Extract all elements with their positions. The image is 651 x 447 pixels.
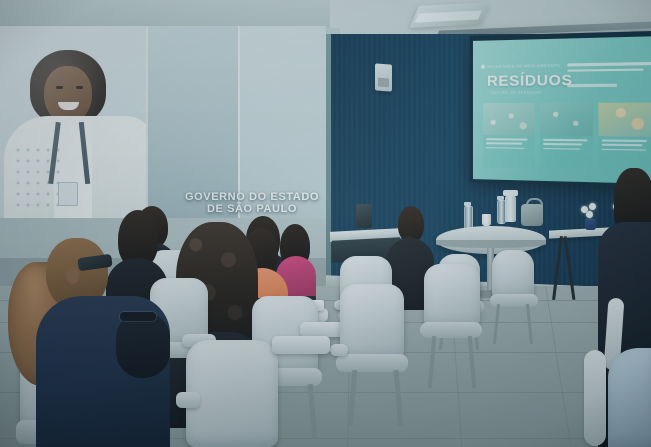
slide-title: RESÍDUOS [487, 72, 573, 90]
attendee-front-left-epaulette [120, 312, 156, 321]
plastic-cup [482, 214, 491, 226]
flower-bloom-3 [586, 211, 593, 218]
slide-card-2 [540, 103, 594, 170]
attendee-front-left-ear [66, 266, 79, 284]
flower-pot-1 [585, 219, 596, 230]
slide-kicker: SECRETARIA DE MEIO AMBIENTE [487, 64, 560, 69]
slide-body-text [567, 62, 651, 75]
water-jug [521, 204, 543, 226]
slide-card-2-caption [540, 136, 594, 170]
wall-corner-edge [326, 34, 331, 284]
flower-bloom-2 [589, 203, 596, 210]
slide-card-3-caption [599, 136, 651, 171]
wall-mural-poster: GOVERNO DO ESTADO DE SÃO PAULO [0, 26, 326, 218]
attendee-front-left-sleeve [116, 312, 170, 378]
slide-card-1-image [483, 103, 535, 136]
slide-kicker-bullet-icon [481, 65, 484, 69]
ceiling-light-tube [415, 10, 482, 22]
ceiling-light-icon [409, 2, 490, 28]
speaker-icon [375, 63, 392, 91]
slide-card-1 [483, 103, 535, 169]
photo-scene: GOVERNO DO ESTADO DE SÃO PAULO SECRETARI… [0, 0, 651, 447]
projection-screen: SECRETARIA DE MEIO AMBIENTE RESÍDUOS GES… [470, 31, 651, 188]
slide-card-1-caption [483, 135, 535, 168]
mural-glare [0, 26, 326, 218]
monitor-icon [356, 204, 372, 228]
slide-card-3 [599, 103, 651, 171]
sanitizer-dispenser [505, 196, 516, 222]
slide-subtitle: GESTÃO DE RESÍDUOS [491, 91, 541, 95]
slide-bullet-text [567, 84, 634, 90]
projected-slide: SECRETARIA DE MEIO AMBIENTE RESÍDUOS GES… [473, 36, 651, 184]
slide-image-cards [483, 103, 651, 171]
speaker-grill [378, 78, 389, 88]
slide-card-3-image [599, 103, 651, 137]
round-table-edge [436, 240, 546, 248]
slide-card-2-image [540, 103, 594, 136]
